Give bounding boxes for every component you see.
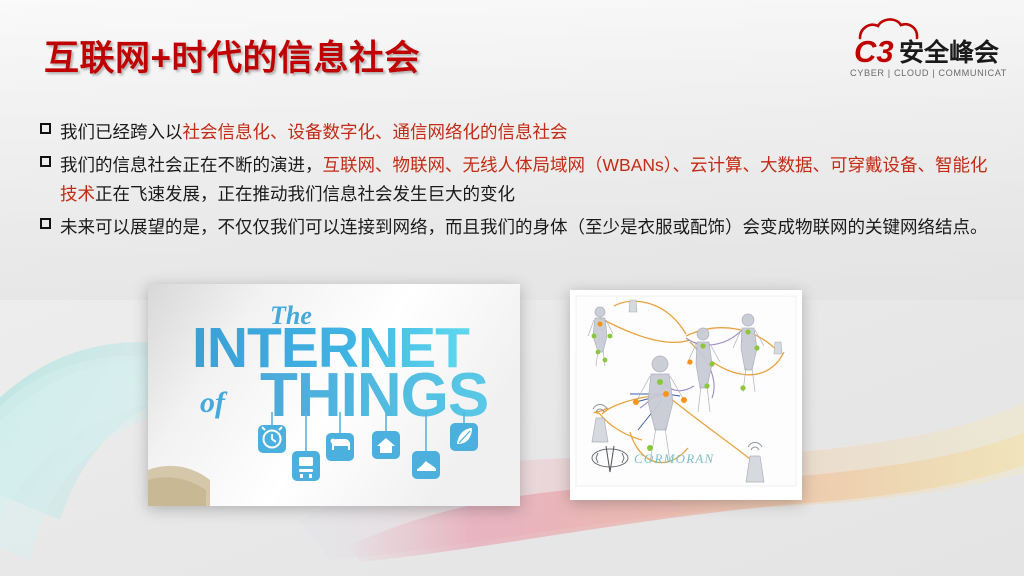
house-icon bbox=[372, 431, 400, 459]
square-bullet-icon bbox=[40, 156, 51, 167]
bullet-3-run-1: 未来可以展望的是，不仅仅我们可以连接到网络，而且我们的身体（至少是衣服或配饰）会… bbox=[60, 217, 988, 237]
alarm-clock-icon bbox=[258, 425, 286, 453]
cormoran-caption: CORMORAN bbox=[634, 451, 714, 466]
wban-cormoran-image: CORMORAN bbox=[570, 290, 802, 500]
bullet-item-1: 我们已经跨入以社会信息化、设备数字化、通信网络化的信息社会 bbox=[40, 118, 992, 147]
cow-icon bbox=[326, 433, 354, 461]
slide-canvas: 互联网+时代的信息社会 C3 安全峰会 CYBER | CLOUD | COMM… bbox=[0, 0, 1024, 576]
bullet-item-3: 未来可以展望的是，不仅仅我们可以连接到网络，而且我们的身体（至少是衣服或配饰）会… bbox=[40, 213, 992, 242]
logo-tagline: CYBER | CLOUD | COMMUNICATION bbox=[850, 68, 1006, 78]
square-bullet-icon bbox=[40, 218, 51, 229]
train-icon bbox=[292, 451, 320, 481]
logo-name-cn: 安全峰会 bbox=[899, 38, 999, 67]
square-bullet-icon bbox=[40, 123, 51, 134]
logo-mark: C3 bbox=[854, 34, 894, 69]
page-title: 互联网+时代的信息社会 bbox=[44, 30, 420, 81]
shoe-icon bbox=[412, 451, 440, 479]
bullet-list: 我们已经跨入以社会信息化、设备数字化、通信网络化的信息社会 我们的信息社会正在不… bbox=[40, 118, 992, 246]
iot-title-of: of bbox=[200, 386, 228, 419]
internet-of-things-image: The INTERNET of THINGS bbox=[148, 284, 520, 506]
bullet-2-run-3: 正在飞速发展，正在推动我们信息社会发生巨大的变化 bbox=[95, 184, 515, 204]
bullet-1-run-1: 我们已经跨入以 bbox=[60, 122, 183, 142]
leaf-icon bbox=[450, 423, 478, 451]
bullet-2-run-1: 我们的信息社会正在不断的演进， bbox=[60, 155, 323, 175]
bullet-1-run-2: 社会信息化、设备数字化、通信网络化的信息社会 bbox=[183, 122, 568, 142]
iot-title-things: THINGS bbox=[260, 361, 488, 430]
bullet-item-2: 我们的信息社会正在不断的演进，互联网、物联网、无线人体局域网（WBANs）、云计… bbox=[40, 151, 992, 209]
c3-summit-logo: C3 安全峰会 CYBER | CLOUD | COMMUNICATION bbox=[826, 14, 1006, 86]
